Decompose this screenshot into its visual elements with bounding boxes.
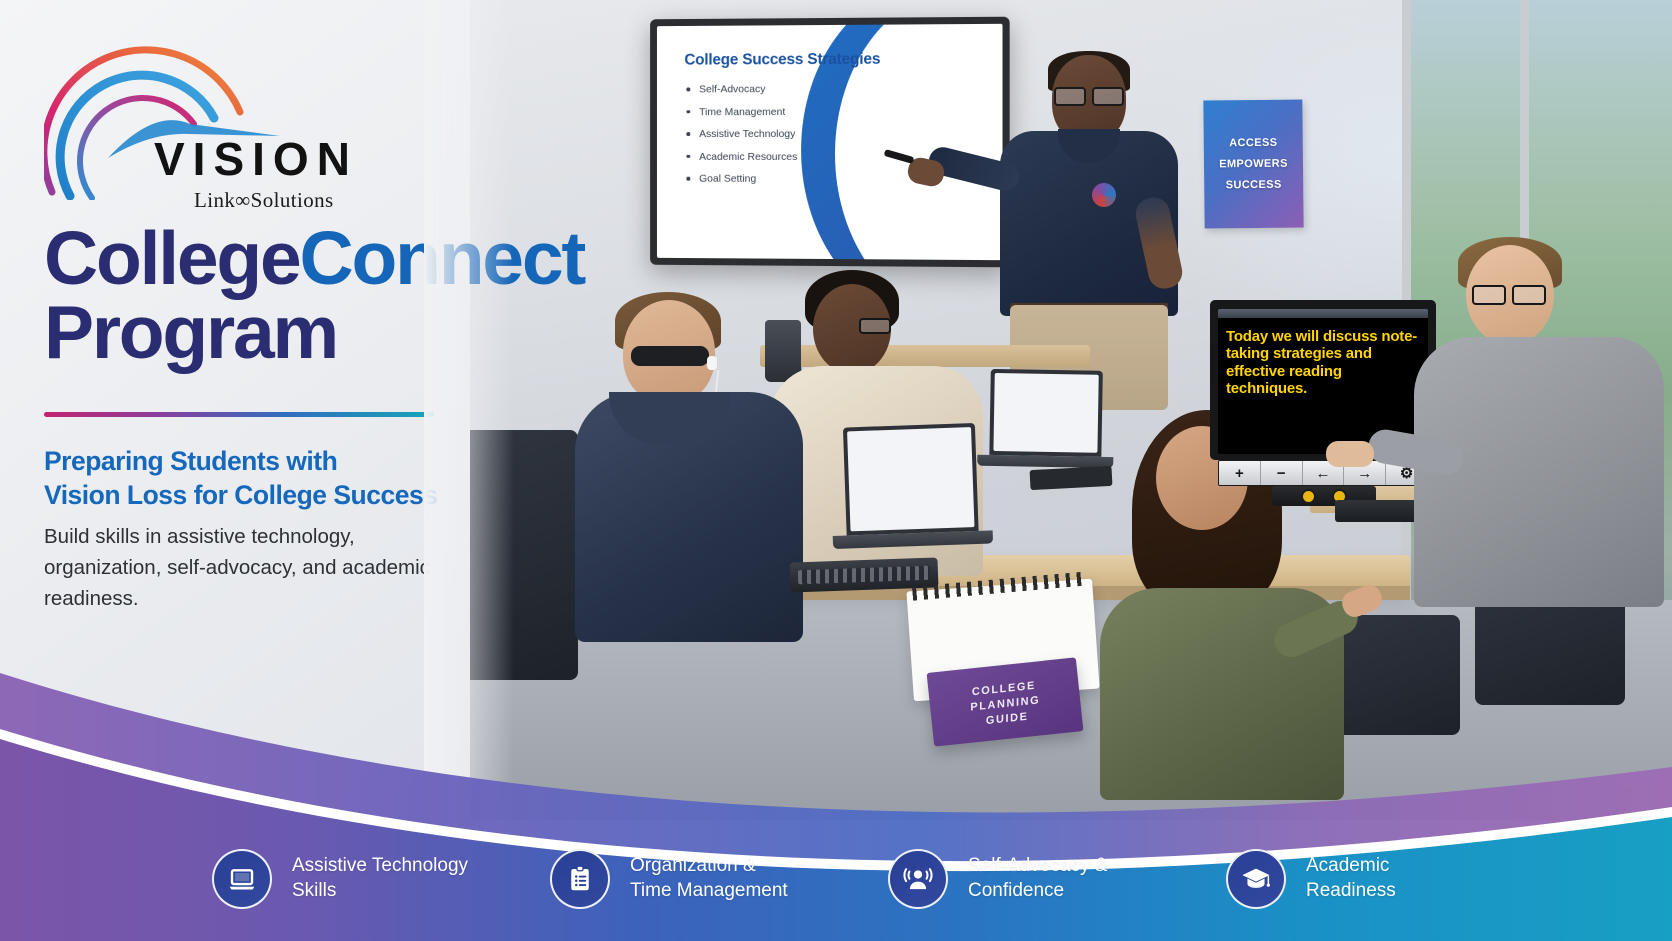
body-description: Build skills in assistive technology, or…	[44, 522, 434, 614]
guidebook-line-3: GUIDE	[985, 711, 1028, 728]
clipboard-icon	[550, 849, 610, 909]
magnifier-toolbar	[1218, 309, 1428, 318]
feature-label: Self-Advocacy & Confidence	[968, 854, 1107, 903]
feature-item-organization[interactable]: Organization & Time Management	[550, 849, 888, 909]
presentation-screen: College Success Strategies Self-Advocacy…	[650, 17, 1010, 268]
student-hand	[1326, 441, 1374, 467]
headline-part-1: College	[44, 216, 300, 300]
glasses-icon	[1472, 285, 1546, 301]
zoom-in-button[interactable]: +	[1219, 461, 1261, 485]
earbud-icon	[707, 356, 717, 370]
logo-wordmark: VISION	[154, 132, 358, 186]
college-connect-banner: College Success Strategies Self-Advocacy…	[0, 0, 1672, 941]
logo-tagline: Link∞Solutions	[194, 188, 334, 213]
braille-cells	[798, 566, 930, 585]
laptop-screen	[843, 423, 979, 536]
slide-bullet: Time Management	[684, 105, 982, 118]
gradient-divider	[44, 412, 434, 417]
slide-bullet: Self-Advocacy	[684, 82, 982, 95]
college-planning-guide-book: COLLEGE PLANNING GUIDE	[927, 657, 1084, 746]
feature-bar: Assistive Technology Skills Organization…	[0, 816, 1672, 941]
glasses-icon	[1054, 87, 1124, 102]
page-title: CollegeConnect Program	[44, 222, 684, 369]
wall-poster: ACCESS EMPOWERS SUCCESS	[1203, 99, 1303, 228]
speaking-person-icon	[888, 849, 948, 909]
feature-label-line-2: Readiness	[1306, 880, 1396, 901]
feature-label-line-2: Confidence	[968, 880, 1064, 901]
feature-label-line-2: Time Management	[630, 880, 788, 901]
laptop-icon	[212, 849, 272, 909]
poster-line-3: SUCCESS	[1226, 179, 1282, 192]
slide-title: College Success Strategies	[684, 50, 982, 69]
feature-label-line-1: Self-Advocacy &	[968, 855, 1107, 876]
poster-line-1: ACCESS	[1229, 137, 1277, 150]
feature-label-line-2: Skills	[292, 880, 336, 901]
feature-label-line-1: Academic	[1306, 855, 1389, 876]
classroom-photo: College Success Strategies Self-Advocacy…	[430, 0, 1672, 820]
laptop-screen	[989, 369, 1102, 457]
feature-item-assistive-technology[interactable]: Assistive Technology Skills	[212, 849, 550, 909]
subtitle-line-2: Vision Loss for College Success	[44, 480, 437, 510]
headline-part-2: Connect	[300, 216, 585, 300]
feature-label: Assistive Technology Skills	[292, 854, 468, 903]
feature-label-line-1: Organization &	[630, 855, 756, 876]
graduation-cap-icon	[1226, 849, 1286, 909]
magnifier-text: Today we will discuss note-taking strate…	[1226, 328, 1420, 398]
left-content-panel: VISION Link∞Solutions CollegeConnect Pro…	[0, 0, 470, 820]
feature-item-self-advocacy[interactable]: Self-Advocacy & Confidence	[888, 849, 1226, 909]
knob-icon[interactable]	[1301, 489, 1316, 504]
slide-bullet: Assistive Technology	[684, 128, 982, 140]
headline-part-3: Program	[44, 290, 337, 374]
vision-link-solutions-logo: VISION Link∞Solutions	[44, 40, 374, 208]
feature-label: Academic Readiness	[1306, 854, 1396, 903]
poster-line-2: EMPOWERS	[1219, 158, 1288, 171]
subtitle: Preparing Students with Vision Loss for …	[44, 444, 474, 512]
feature-item-academic-readiness[interactable]: Academic Readiness	[1226, 849, 1564, 909]
feature-label-line-1: Assistive Technology	[292, 855, 468, 876]
glasses-icon	[859, 318, 891, 334]
subtitle-line-1: Preparing Students with	[44, 446, 337, 476]
zoom-out-button[interactable]: −	[1261, 461, 1303, 485]
slide: College Success Strategies Self-Advocacy…	[657, 24, 1003, 260]
laptop	[843, 422, 993, 548]
video-magnifier: Today we will discuss note-taking strate…	[1210, 300, 1436, 505]
polo-logo-icon	[1092, 183, 1116, 207]
feature-label: Organization & Time Management	[630, 854, 788, 903]
student-right	[1430, 245, 1670, 675]
